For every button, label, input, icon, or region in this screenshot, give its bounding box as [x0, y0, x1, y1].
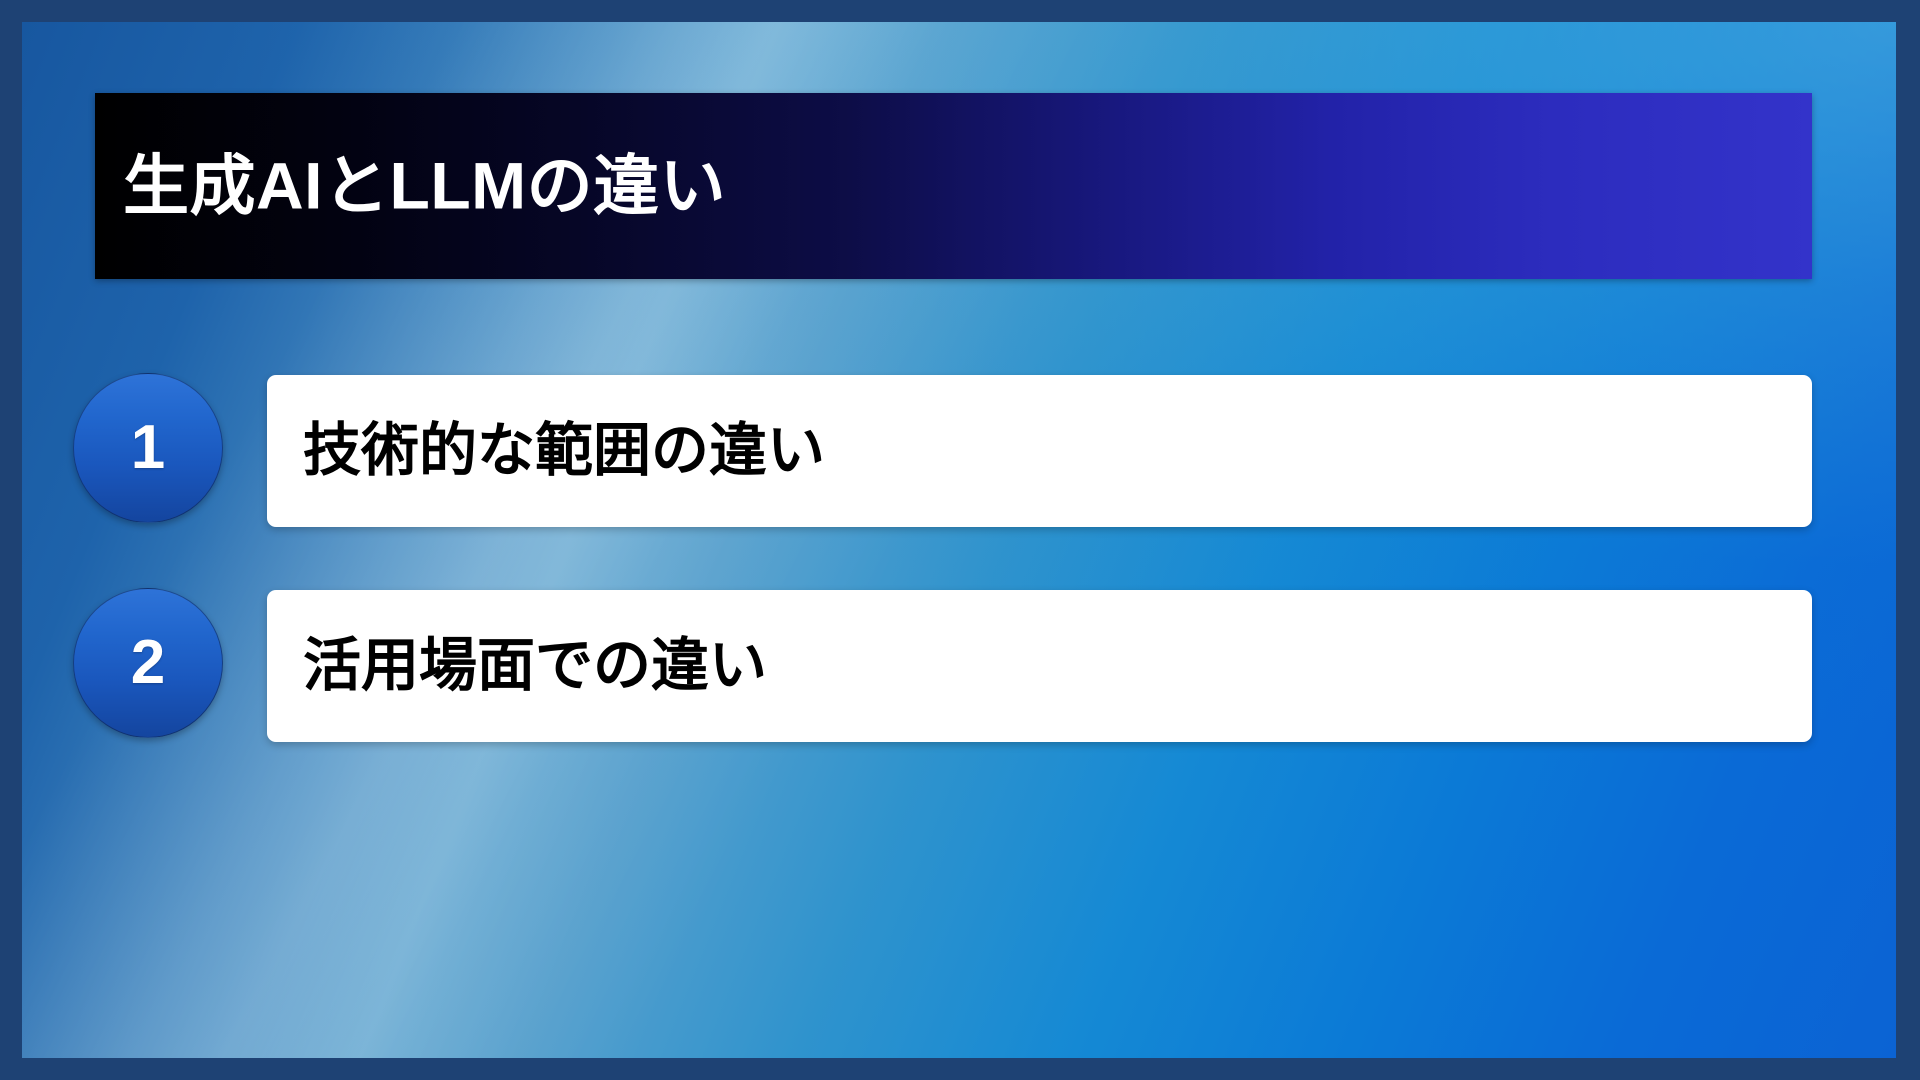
- item-number-label: 1: [131, 417, 165, 479]
- item-number-badge-2: 2: [73, 588, 223, 738]
- slide: 生成AIとLLMの違い 1 技術的な範囲の違い 2 活用場面での違い: [0, 0, 1920, 1080]
- slide-canvas: 生成AIとLLMの違い 1 技術的な範囲の違い 2 活用場面での違い: [22, 22, 1896, 1058]
- item-card-2[interactable]: 活用場面での違い: [267, 590, 1812, 742]
- item-number-label: 2: [131, 632, 165, 694]
- title-banner: 生成AIとLLMの違い: [95, 93, 1812, 279]
- item-card-1[interactable]: 技術的な範囲の違い: [267, 375, 1812, 527]
- page-title: 生成AIとLLMの違い: [123, 150, 726, 223]
- item-card-label: 活用場面での違い: [303, 633, 767, 700]
- item-number-badge-1: 1: [73, 373, 223, 523]
- item-card-label: 技術的な範囲の違い: [303, 418, 825, 485]
